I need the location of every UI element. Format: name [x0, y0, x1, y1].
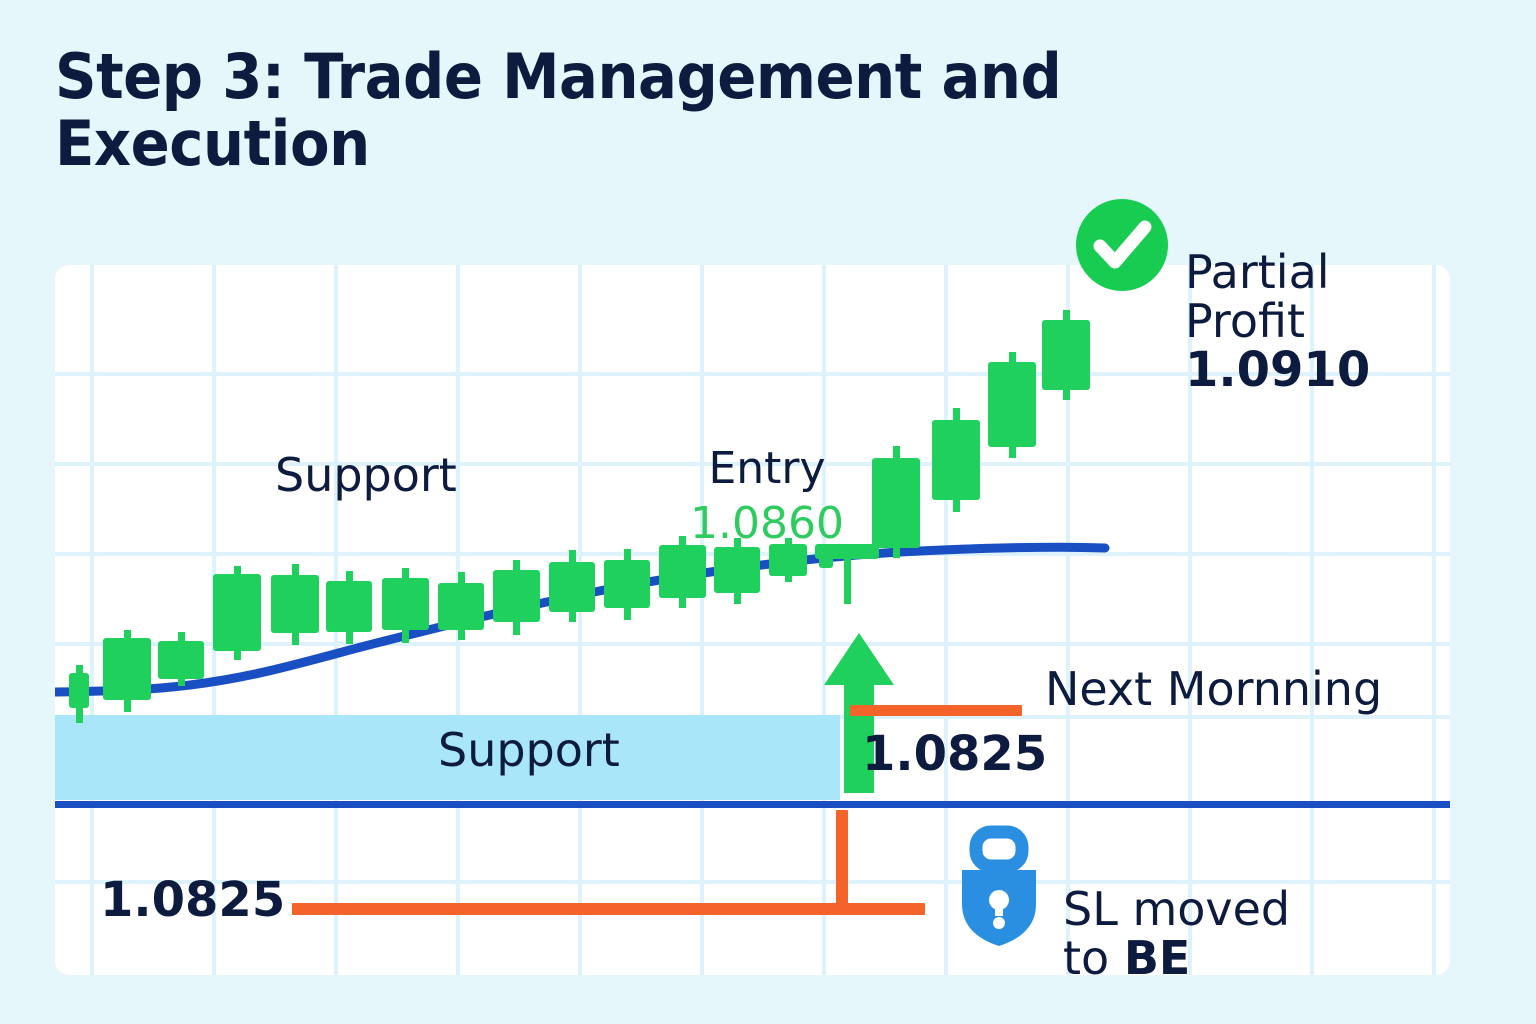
candlestick — [103, 630, 151, 712]
candle-body — [493, 570, 540, 622]
candlestick — [382, 568, 429, 643]
stop-loss-connector — [836, 810, 848, 910]
support-label-band: Support — [438, 723, 620, 777]
partial-profit-annotation: Partial Profit 1.0910 — [1185, 200, 1370, 444]
candle-body — [932, 420, 980, 500]
sl-be-text: BE — [1124, 931, 1190, 985]
candle-body — [872, 458, 920, 548]
candlestick — [493, 560, 540, 635]
candle-body — [549, 562, 595, 612]
candle-body — [988, 362, 1036, 447]
candle-body — [604, 560, 650, 608]
candle-body — [271, 575, 319, 633]
candlestick — [1042, 310, 1090, 400]
partial-profit-label: Partial Profit — [1185, 245, 1330, 347]
next-morning-label: Next Mornning — [1045, 662, 1382, 716]
candle-body — [438, 583, 484, 630]
entry-label: Entry — [708, 443, 825, 494]
candlestick — [932, 408, 980, 512]
partial-profit-value: 1.0910 — [1185, 345, 1370, 395]
candle-body — [1042, 320, 1090, 390]
entry-price-label: 1.0825 — [862, 726, 1047, 782]
entry-value: 1.0860 — [690, 498, 844, 549]
candlestick — [604, 549, 650, 620]
candlestick — [872, 446, 920, 558]
candlestick — [158, 632, 204, 686]
candlestick — [438, 572, 484, 640]
lock-shield-icon — [952, 828, 1046, 948]
candlestick — [988, 352, 1036, 458]
entry-annotation: Entry 1.0860 — [690, 392, 844, 600]
candlestick — [213, 566, 261, 660]
candlestick — [271, 564, 319, 645]
candlestick — [326, 571, 372, 644]
candle-body — [69, 673, 89, 708]
candle-body — [382, 578, 429, 630]
candle-body — [158, 641, 204, 679]
next-morning-stop-line — [850, 705, 1022, 716]
stop-loss-price-label: 1.0825 — [100, 872, 285, 928]
sl-moved-to-be-label: SL moved to BE — [1063, 835, 1290, 984]
candle-body — [326, 581, 372, 632]
candle-body — [103, 638, 151, 700]
support-label-upper: Support — [275, 448, 457, 502]
candle-body — [213, 574, 261, 651]
check-circle-icon — [1074, 197, 1170, 293]
initial-stop-loss-line — [292, 903, 925, 915]
page-title: Step 3: Trade Management and Execution — [55, 44, 1171, 178]
infographic-canvas: Step 3: Trade Management and Execution — [0, 0, 1536, 1024]
candlestick — [69, 665, 89, 723]
candlestick — [549, 550, 595, 622]
